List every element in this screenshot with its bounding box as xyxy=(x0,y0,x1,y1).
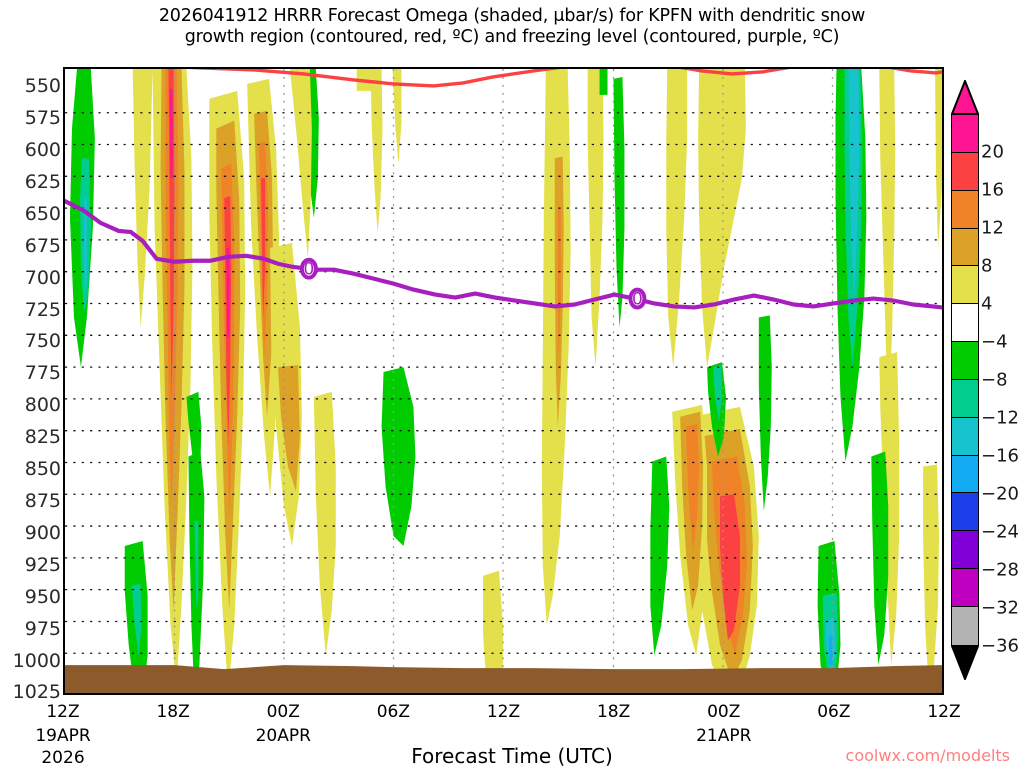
colorbar-tick-5: −4 xyxy=(981,332,1008,353)
x-axis-tick-4: 12Z xyxy=(487,702,520,722)
chart-title-line1: 2026041912 HRRR Forecast Omega (shaded, … xyxy=(159,6,865,26)
y-axis-tick-625: 625 xyxy=(3,171,61,193)
x-axis-date-0: 19APR xyxy=(35,726,90,746)
colorbar-segment-0 xyxy=(952,115,978,153)
x-axis-tick-5: 18Z xyxy=(597,702,630,722)
colorbar-segment-6 xyxy=(952,342,978,380)
y-axis-tick-725: 725 xyxy=(3,299,61,321)
y-axis-tick-750: 750 xyxy=(3,330,61,352)
x-axis-tick-8: 12Z xyxy=(927,702,960,722)
x-axis-tick-2: 00Z xyxy=(267,702,300,722)
colorbar-tick-9: −20 xyxy=(981,484,1019,505)
colorbar-tick-6: −8 xyxy=(981,370,1008,391)
y-axis-tick-800: 800 xyxy=(3,394,61,416)
colorbar-tick-1: 16 xyxy=(981,180,1004,201)
colorbar-top-arrow xyxy=(951,80,979,115)
colorbar-segment-2 xyxy=(952,191,978,229)
chart-title: 2026041912 HRRR Forecast Omega (shaded, … xyxy=(0,6,1024,48)
y-axis-tick-575: 575 xyxy=(3,107,61,129)
colorbar-tick-8: −16 xyxy=(981,446,1019,467)
y-axis-tick-925: 925 xyxy=(3,554,61,576)
colorbar-tick-13: −36 xyxy=(981,636,1019,657)
colorbar-segment-13 xyxy=(952,607,978,645)
x-axis-tick-7: 06Z xyxy=(817,702,850,722)
y-axis-tick-850: 850 xyxy=(3,458,61,480)
y-axis-tick-550: 550 xyxy=(3,75,61,97)
y-axis-tick-775: 775 xyxy=(3,362,61,384)
chart-title-line2: growth region (contoured, red, ºC) and f… xyxy=(0,27,1024,48)
forecast-sounding-chart: 2026041912 HRRR Forecast Omega (shaded, … xyxy=(0,0,1024,768)
y-axis-tick-675: 675 xyxy=(3,235,61,257)
colorbar-tick-0: 20 xyxy=(981,142,1004,163)
colorbar-body xyxy=(951,114,979,646)
watermark: coolwx.com/modelts xyxy=(846,746,1010,765)
colorbar-segment-1 xyxy=(952,153,978,191)
y-axis-tick-1025: 1025 xyxy=(3,681,61,703)
colorbar-segment-8 xyxy=(952,418,978,456)
y-axis-labels: 5505756006256506757007257507758008258508… xyxy=(0,0,61,768)
colorbar-legend: 20161284−4−8−12−16−20−24−28−32−36 xyxy=(951,80,979,680)
x-axis-tick-3: 06Z xyxy=(377,702,410,722)
x-axis-date-2: 20APR xyxy=(256,726,311,746)
y-axis-tick-700: 700 xyxy=(3,267,61,289)
colorbar-segment-5 xyxy=(952,304,978,342)
x-axis-date-6: 21APR xyxy=(696,726,751,746)
colorbar-tick-7: −12 xyxy=(981,408,1019,429)
x-axis-tick-0: 12Z xyxy=(46,702,79,722)
y-axis-tick-600: 600 xyxy=(3,139,61,161)
y-axis-tick-650: 650 xyxy=(3,203,61,225)
colorbar-bottom-arrow xyxy=(951,645,979,680)
y-axis-tick-950: 950 xyxy=(3,586,61,608)
colorbar-segment-11 xyxy=(952,531,978,569)
colorbar-segment-10 xyxy=(952,493,978,531)
colorbar-segment-3 xyxy=(952,229,978,267)
colorbar-tick-4: 4 xyxy=(981,294,992,315)
colorbar-tick-3: 8 xyxy=(981,256,992,277)
colorbar-tick-2: 12 xyxy=(981,218,1004,239)
x-axis-tick-6: 00Z xyxy=(707,702,740,722)
y-axis-tick-1000: 1000 xyxy=(3,650,61,672)
colorbar-tick-12: −32 xyxy=(981,598,1019,619)
colorbar-segment-4 xyxy=(952,266,978,304)
x-axis-tick-1: 18Z xyxy=(156,702,189,722)
y-axis-tick-875: 875 xyxy=(3,490,61,512)
colorbar-tick-10: −24 xyxy=(981,522,1019,543)
y-axis-tick-900: 900 xyxy=(3,522,61,544)
colorbar-segment-12 xyxy=(952,569,978,607)
terrain-band xyxy=(65,69,942,693)
y-axis-tick-975: 975 xyxy=(3,618,61,640)
plot-area: 00 xyxy=(63,67,944,695)
colorbar-segment-9 xyxy=(952,456,978,494)
y-axis-tick-825: 825 xyxy=(3,426,61,448)
colorbar-tick-11: −28 xyxy=(981,560,1019,581)
colorbar-segment-7 xyxy=(952,380,978,418)
